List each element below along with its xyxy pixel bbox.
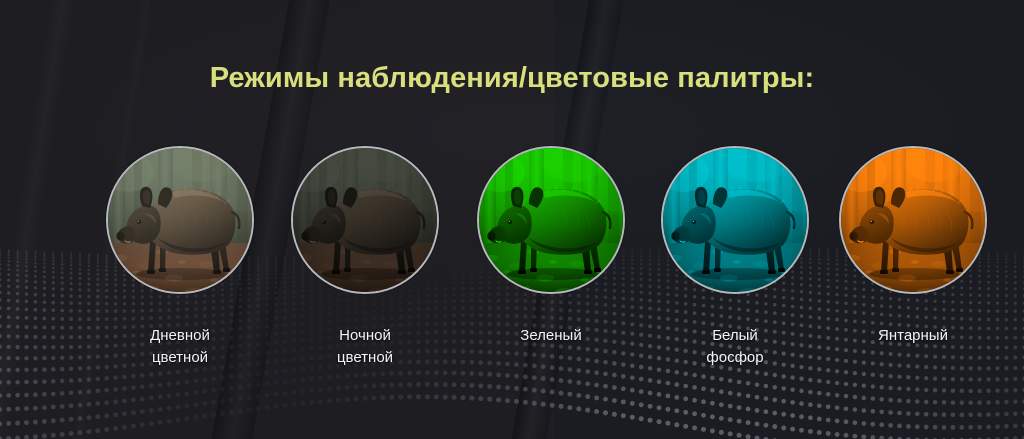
- palette-label-line2: цветной: [270, 347, 460, 369]
- palette-label: Ночной цветной: [270, 325, 460, 369]
- boar-scene-icon: [477, 146, 625, 294]
- slide-canvas: Режимы наблюдения/цветовые палитры:: [0, 0, 1024, 439]
- boar-scene-icon: [291, 146, 439, 294]
- palette-label-line2: фосфор: [640, 347, 830, 369]
- preview-circle[interactable]: [106, 146, 254, 294]
- page-title: Режимы наблюдения/цветовые палитры:: [0, 62, 1024, 95]
- palette-label: Зеленый: [456, 325, 646, 347]
- palette-item-day-color[interactable]: Дневной цветной: [85, 146, 275, 369]
- palette-label: Янтарный: [818, 325, 1008, 347]
- boar-scene-icon: [106, 146, 254, 294]
- preview-circle[interactable]: [661, 146, 809, 294]
- preview-circle[interactable]: [291, 146, 439, 294]
- palette-label-line2: цветной: [85, 347, 275, 369]
- palette-row: Дневной цветной: [0, 146, 1024, 376]
- preview-circle[interactable]: [477, 146, 625, 294]
- palette-item-night-color[interactable]: Ночной цветной: [270, 146, 460, 369]
- palette-label-line1: Янтарный: [818, 325, 1008, 347]
- palette-label-line1: Ночной: [270, 325, 460, 347]
- palette-label-line1: Белый: [640, 325, 830, 347]
- palette-item-white-phosphor[interactable]: Белый фосфор: [640, 146, 830, 369]
- palette-label: Белый фосфор: [640, 325, 830, 369]
- palette-label-line1: Дневной: [85, 325, 275, 347]
- preview-circle[interactable]: [839, 146, 987, 294]
- boar-scene-icon: [661, 146, 809, 294]
- palette-item-amber[interactable]: Янтарный: [818, 146, 1008, 347]
- palette-item-green[interactable]: Зеленый: [456, 146, 646, 347]
- palette-label: Дневной цветной: [85, 325, 275, 369]
- palette-label-line1: Зеленый: [456, 325, 646, 347]
- boar-scene-icon: [839, 146, 987, 294]
